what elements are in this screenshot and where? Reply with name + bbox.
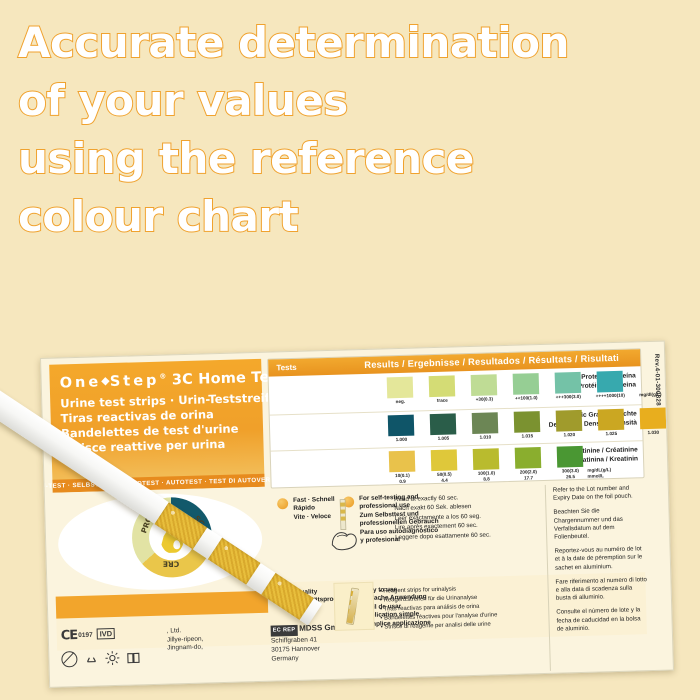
swatch-label-cre-1-bot: 4.4 bbox=[441, 477, 448, 482]
swatch-strip-protein: neg. trace +30(0.3) ++100(1.0) +++300(3.… bbox=[387, 377, 388, 415]
manufacturer-name: , Ltd. bbox=[167, 627, 182, 634]
test-strip-icon bbox=[333, 582, 374, 631]
row-name-protein: Protein / Proteína Protéine / Proteina bbox=[524, 372, 641, 392]
headline-line-1: Accurate determination bbox=[18, 22, 698, 64]
swatch-label-sg-0: 1.000 bbox=[378, 436, 424, 443]
swatch-label-protein-5: ++++1000(10) bbox=[587, 392, 633, 399]
swatch-label-cre-2: 100(1.0) 8.8 bbox=[463, 470, 509, 482]
swatch-strip-specific-gravity: 1.000 1.005 1.010 1.015 1.020 1.025 1.03… bbox=[388, 415, 389, 451]
feature-fast-l2: Rápido bbox=[293, 505, 315, 513]
swatch-label-protein-2: +30(0.3) bbox=[461, 396, 507, 403]
swatch-strip-creatinine: 10(0.1) 0.9 50(0.5) 4.4 100(1.0) 8.8 bbox=[389, 451, 390, 488]
swatch-label-cre-4-bot: 26.5 bbox=[566, 474, 575, 479]
swatch-label-protein-3: ++100(1.0) bbox=[503, 395, 549, 402]
swatch-protein-2 bbox=[471, 374, 498, 396]
swatch-label-cre-3-bot: 17.7 bbox=[524, 475, 533, 480]
row-name-specific-gravity: Specific Gravity / Dichte Densidad / Den… bbox=[525, 410, 642, 430]
ec-rep-badge: EC REP bbox=[271, 625, 298, 637]
swatch-sg-4 bbox=[556, 410, 583, 432]
units-cre-l2: mmol/L bbox=[587, 473, 603, 478]
swatch-sg-0 bbox=[388, 415, 415, 437]
swatch-sg-3 bbox=[514, 411, 541, 433]
product-leaflet-card: One◆Step® 3C Home Test Urine test strips… bbox=[40, 341, 674, 688]
swatch-label-protein-0: neg. bbox=[377, 398, 423, 405]
swatch-sg-1 bbox=[430, 413, 457, 435]
donut-label-cre: CRE bbox=[163, 559, 179, 568]
swatch-label-sg-6: 1.030 bbox=[630, 429, 674, 436]
single-use-icon bbox=[61, 651, 77, 667]
swatch-label-cre-2-bot: 8.8 bbox=[483, 476, 490, 481]
headline-line-3: using the reference bbox=[18, 138, 698, 180]
swatch-protein-3 bbox=[513, 373, 540, 395]
leaflet-surface: One◆Step® 3C Home Test Urine test strips… bbox=[40, 341, 674, 688]
headline-line-4: colour chart bbox=[18, 196, 698, 238]
swatch-protein-1 bbox=[429, 375, 456, 397]
row-name-creatinine: Creatinine / Créatinine Creatinina / Kre… bbox=[526, 446, 643, 466]
swatch-sg-5 bbox=[598, 409, 625, 431]
ec-rep-city: 30175 Hannover bbox=[271, 645, 320, 653]
brand-trademark: ® bbox=[159, 372, 166, 380]
lot-notice-en: Refer to the Lot number and Expiry Date … bbox=[553, 484, 645, 503]
swatch-sg-2 bbox=[472, 412, 499, 434]
strip-usage-bullets: Reagent strips for urinalysis Reagenzstr… bbox=[380, 583, 553, 633]
swatch-label-cre-0-bot: 0.9 bbox=[399, 478, 406, 483]
swatch-cre-1 bbox=[431, 449, 458, 471]
manufacturer-info: , Ltd. Jillye-ripeon, Jingnam-do, bbox=[167, 627, 204, 654]
reference-colour-chart: Tests Results / Ergebnisse / Resultados … bbox=[267, 348, 644, 488]
ce-mark-icon: CE bbox=[61, 628, 78, 643]
swatch-label-cre-3-top: 200(2.0) bbox=[520, 469, 537, 474]
page-headline: Accurate determination of your values us… bbox=[18, 22, 698, 254]
swatch-label-protein-1: trace bbox=[419, 397, 465, 404]
hand-holding-strip-icon bbox=[323, 498, 367, 555]
swatch-protein-4 bbox=[555, 372, 582, 394]
swatch-label-sg-2: 1.010 bbox=[462, 434, 508, 441]
temperature-icon bbox=[84, 651, 98, 665]
lot-notice-de: Beachten Sie die Chargennummer und das V… bbox=[553, 507, 646, 542]
speed-icon bbox=[277, 498, 288, 509]
ec-rep-street: Schiffgraben 41 bbox=[271, 636, 317, 644]
product-title: One◆Step® 3C Home Test bbox=[59, 369, 285, 391]
swatch-label-sg-3: 1.015 bbox=[504, 433, 550, 440]
lot-notice-it: Fare riferimento al numero di lotto e al… bbox=[555, 576, 648, 603]
swatch-label-sg-5: 1.025 bbox=[588, 430, 634, 437]
swatch-label-cre-1-top: 50(0.5) bbox=[437, 472, 452, 477]
headline-line-2: of your values bbox=[18, 80, 698, 122]
ce-notified-body-number: 0197 bbox=[78, 632, 93, 639]
row-units-creatinine: mg/dL(g/L) mmol/L bbox=[587, 467, 611, 479]
read-time-instructions: Read at exactly 60 sec. Nach exakt 60 Se… bbox=[394, 491, 545, 542]
swatch-cre-3 bbox=[515, 447, 542, 469]
swatch-label-sg-4: 1.020 bbox=[546, 432, 592, 439]
lot-notice-fr: Reportez-vous au numéro de lot et à la d… bbox=[555, 545, 648, 572]
swatch-protein-0 bbox=[387, 377, 414, 399]
lot-notice-es: Consulte el número de lote y la fecha de… bbox=[556, 607, 649, 634]
consult-instructions-icon bbox=[126, 650, 140, 664]
manufacturer-addr1: Jillye-ripeon, bbox=[167, 635, 204, 643]
product-subtitles: Urine test strips · Urin-Teststreifen Ti… bbox=[60, 391, 258, 456]
swatch-label-cre-3: 200(2.0) 17.7 bbox=[505, 469, 551, 481]
swatch-label-cre-2-top: 100(1.0) bbox=[478, 470, 495, 475]
manufacturer-addr2: Jingnam-do, bbox=[167, 644, 203, 652]
swatch-label-protein-4: +++300(3.0) bbox=[545, 394, 591, 401]
brand-step: Step bbox=[110, 373, 160, 390]
swatch-cre-4 bbox=[557, 446, 584, 468]
swatch-cre-2 bbox=[473, 448, 500, 470]
swatch-label-cre-1: 50(0.5) 4.4 bbox=[421, 471, 467, 483]
brand-one: One bbox=[59, 374, 101, 391]
swatch-sg-6 bbox=[640, 408, 667, 430]
swatch-label-cre-0: 10(0.1) 0.9 bbox=[379, 472, 425, 484]
revision-code: Rev.4-01-300828 bbox=[653, 354, 661, 406]
swatch-label-cre-0-top: 10(0.1) bbox=[395, 473, 410, 478]
keep-away-from-sunlight-icon bbox=[105, 651, 119, 665]
header-tests-label: Tests bbox=[276, 363, 297, 373]
lot-expiry-notice: Refer to the Lot number and Expiry Date … bbox=[553, 484, 649, 640]
swatch-label-sg-1: 1.005 bbox=[420, 435, 466, 442]
swatch-protein-5 bbox=[597, 371, 624, 393]
ec-rep-country: Germany bbox=[271, 655, 298, 663]
ivd-icon: IVD bbox=[96, 628, 115, 640]
swatch-label-cre-4-top: 300(3.0) bbox=[562, 468, 579, 473]
units-cre-l1: mg/dL(g/L) bbox=[587, 467, 611, 473]
swatch-cre-0 bbox=[389, 451, 416, 473]
